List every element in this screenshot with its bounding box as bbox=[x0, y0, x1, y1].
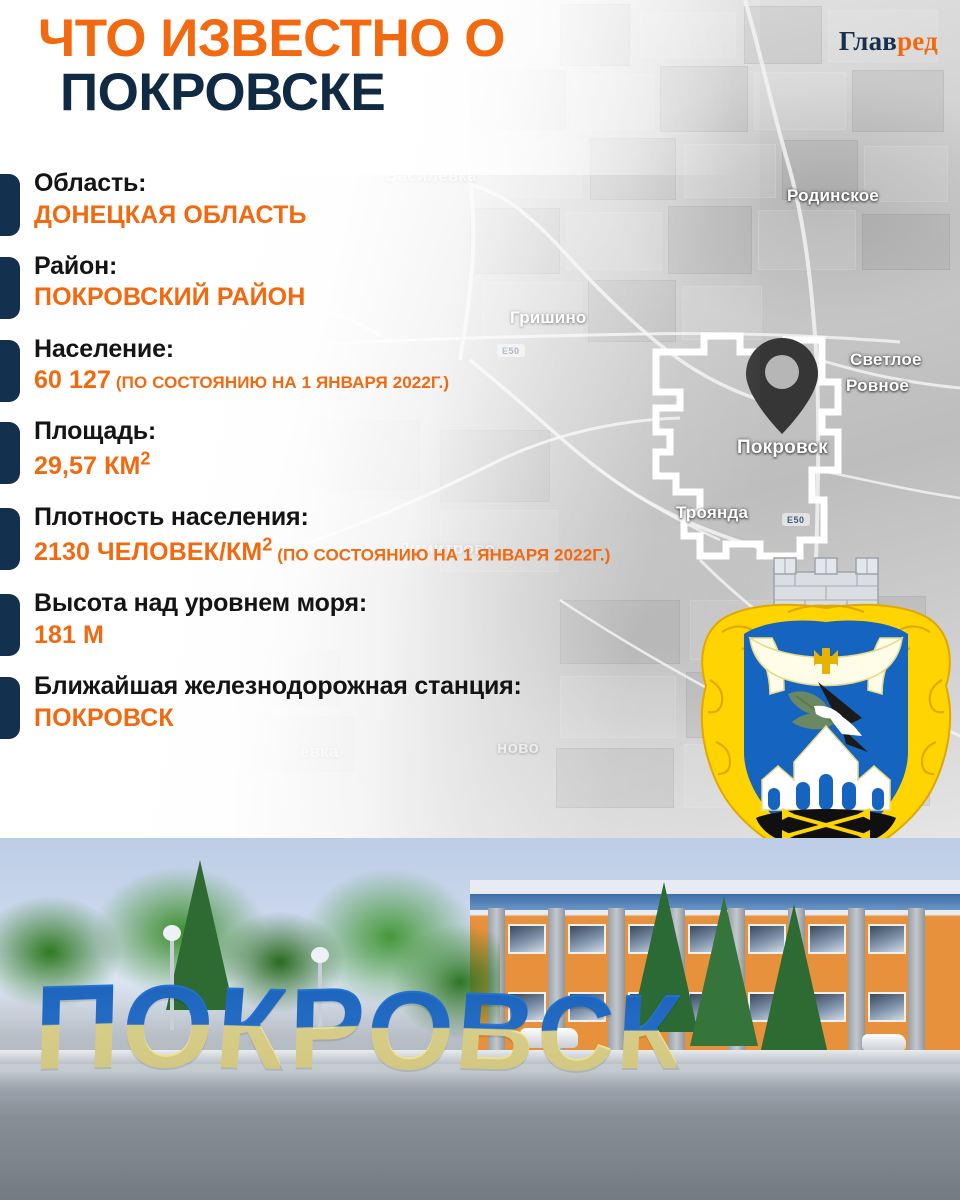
fact-bullet-marker bbox=[0, 594, 20, 656]
fact-value: ПОКРОВСКИЙ РАЙОН bbox=[34, 282, 760, 313]
fact-bullet-marker bbox=[0, 257, 20, 319]
fact-label: Область: bbox=[34, 168, 760, 199]
page-header: ЧТО ИЗВЕСТНО О ПОКРОВСКЕ bbox=[38, 12, 678, 120]
brand-logo-part2: ред bbox=[897, 26, 938, 56]
sign-letter: К bbox=[212, 974, 287, 1083]
fact-label: Район: bbox=[34, 251, 760, 282]
fact-label: Ближайшая железнодорожная станция: bbox=[34, 671, 760, 702]
fact-item: Район:ПОКРОВСКИЙ РАЙОН bbox=[0, 251, 760, 314]
fact-value: 60 127 (ПО СОСТОЯНИЮ НА 1 ЯНВАРЯ 2022Г.) bbox=[34, 365, 760, 396]
fact-value-text: 181 М bbox=[34, 621, 104, 649]
fact-label: Высота над уровнем моря: bbox=[34, 588, 760, 619]
fact-bullet-marker bbox=[0, 422, 20, 484]
map-label-3: Светлое bbox=[850, 350, 922, 370]
infographic-poster: ВасилевкаРодинскоеГришиноСветлоеРовноеПо… bbox=[0, 0, 960, 1200]
fact-value-text: ПОКРОВСКИЙ РАЙОН bbox=[34, 283, 305, 311]
fact-note: (ПО СОСТОЯНИЮ НА 1 ЯНВАРЯ 2022Г.) bbox=[111, 373, 449, 392]
fact-item: Население:60 127 (ПО СОСТОЯНИЮ НА 1 ЯНВА… bbox=[0, 334, 760, 397]
page-title-line1: ЧТО ИЗВЕСТНО О bbox=[38, 12, 678, 66]
map-label-4: Ровное bbox=[846, 376, 909, 396]
sign-letter: К bbox=[615, 984, 681, 1082]
brand-logo-part1: Глав bbox=[839, 26, 897, 56]
fact-value-text: ДОНЕЦКАЯ ОБЛАСТЬ bbox=[34, 201, 307, 229]
fact-value-text: 29,57 КМ2 bbox=[34, 452, 151, 480]
fact-item: Область:ДОНЕЦКАЯ ОБЛАСТЬ bbox=[0, 168, 760, 231]
fact-value-text: 2130 ЧЕЛОВЕК/КМ2 bbox=[34, 538, 272, 566]
fact-item: Ближайшая железнодорожная станция:ПОКРОВ… bbox=[0, 671, 760, 734]
fact-value-text: ПОКРОВСК bbox=[34, 704, 174, 732]
sign-letter: С bbox=[536, 982, 613, 1083]
fact-item: Высота над уровнем моря:181 М bbox=[0, 588, 760, 651]
photo-conifer-tree bbox=[690, 896, 758, 1046]
brand-logo[interactable]: Главред bbox=[839, 26, 938, 57]
fact-list: Область:ДОНЕЦКАЯ ОБЛАСТЬРайон:ПОКРОВСКИЙ… bbox=[0, 168, 760, 754]
map-label-1: Родинское bbox=[787, 186, 879, 206]
fact-bullet-marker bbox=[0, 340, 20, 402]
fact-bullet-marker bbox=[0, 174, 20, 236]
fact-value: 29,57 КМ2 bbox=[34, 448, 760, 483]
fact-item: Плотность населения:2130 ЧЕЛОВЕК/КМ2 (ПО… bbox=[0, 502, 760, 568]
sign-letter: О bbox=[364, 979, 453, 1082]
fact-value: ПОКРОВСК bbox=[34, 703, 760, 734]
fact-bullet-marker bbox=[0, 508, 20, 570]
sign-letter: О bbox=[119, 973, 212, 1082]
fact-value-text: 60 127 bbox=[34, 366, 111, 394]
page-title-line2: ПОКРОВСКЕ bbox=[60, 66, 678, 120]
fact-value: 181 М bbox=[34, 620, 760, 651]
fact-label: Плотность населения: bbox=[34, 502, 760, 533]
fact-label: Площадь: bbox=[34, 416, 760, 447]
photo-conifer-tree bbox=[760, 904, 828, 1054]
coat-of-arms-pokrovsk bbox=[692, 556, 960, 876]
sign-letter: Р bbox=[288, 976, 363, 1083]
city-name-sign: ПОКРОВСК bbox=[34, 972, 678, 1082]
sign-letter: П bbox=[33, 970, 118, 1083]
fact-value: ДОНЕЦКАЯ ОБЛАСТЬ bbox=[34, 200, 760, 231]
fact-item: Площадь:29,57 КМ2 bbox=[0, 416, 760, 482]
city-entrance-photo: ПОКРОВСК bbox=[0, 838, 960, 1200]
fact-value: 2130 ЧЕЛОВЕК/КМ2 (ПО СОСТОЯНИЮ НА 1 ЯНВА… bbox=[34, 534, 760, 569]
fact-note: (ПО СОСТОЯНИЮ НА 1 ЯНВАРЯ 2022Г.) bbox=[272, 545, 610, 564]
sign-letter: В bbox=[452, 980, 535, 1083]
photo-car bbox=[862, 1034, 906, 1051]
fact-bullet-marker bbox=[0, 677, 20, 739]
road-shield-icon: E50 bbox=[782, 513, 810, 526]
fact-label: Население: bbox=[34, 334, 760, 365]
